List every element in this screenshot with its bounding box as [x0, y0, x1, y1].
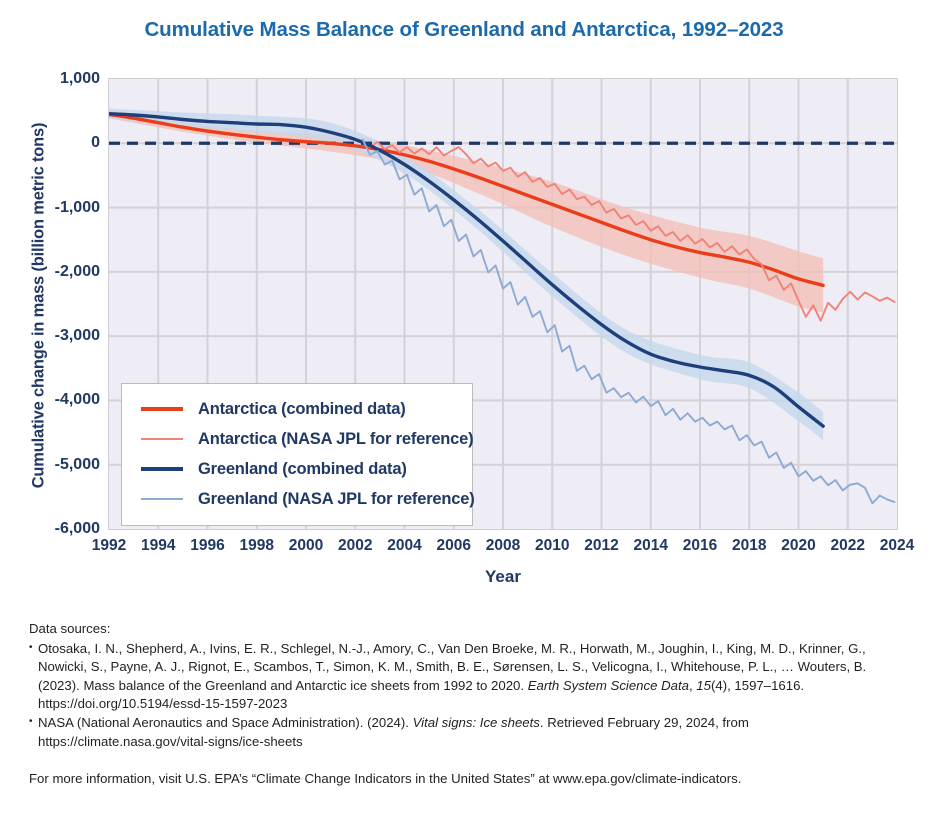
source-2-title: Vital signs: Ice sheets [413, 715, 540, 730]
data-sources-heading: Data sources: [29, 620, 909, 639]
more-information-note: For more information, visit U.S. EPA’s “… [29, 770, 909, 789]
x-axis-title: Year [108, 567, 898, 587]
x-tick-label: 2024 [862, 537, 928, 555]
y-tick-label: 1,000 [0, 70, 100, 88]
legend-item[interactable]: Greenland (combined data) [122, 454, 472, 484]
legend-item-label: Antarctica (NASA JPL for reference) [198, 430, 473, 449]
footnotes: Data sources: Otosaka, I. N., Shepherd, … [29, 620, 909, 789]
legend-item[interactable]: Antarctica (NASA JPL for reference) [122, 424, 472, 454]
y-tick-label: -2,000 [0, 263, 100, 281]
legend-color-swatch [141, 467, 183, 471]
data-source-item-1: Otosaka, I. N., Shepherd, A., Ivins, E. … [29, 640, 909, 714]
y-tick-label: -4,000 [0, 391, 100, 409]
legend-item[interactable]: Greenland (NASA JPL for reference) [122, 484, 472, 514]
y-tick-label: -5,000 [0, 456, 100, 474]
legend-item-label: Greenland (combined data) [198, 460, 407, 479]
y-tick-label: -6,000 [0, 520, 100, 538]
y-axis-tick-labels: 1,0000-1,000-2,000-3,000-4,000-5,000-6,0… [0, 0, 100, 600]
source-1-volume: 15 [696, 678, 711, 693]
source-1-journal: Earth System Science Data [528, 678, 689, 693]
data-source-item-2: NASA (National Aeronautics and Space Adm… [29, 714, 909, 751]
chart-legend: Antarctica (combined data)Antarctica (NA… [121, 383, 473, 526]
source-2-text-a: NASA (National Aeronautics and Space Adm… [38, 715, 413, 730]
legend-color-swatch [141, 438, 183, 440]
legend-color-swatch [141, 498, 183, 500]
y-tick-label: -1,000 [0, 199, 100, 217]
legend-item-label: Greenland (NASA JPL for reference) [198, 490, 475, 509]
legend-item[interactable]: Antarctica (combined data) [122, 394, 472, 424]
chart-figure: Cumulative change in mass (billion metri… [0, 0, 928, 600]
y-tick-label: 0 [0, 134, 100, 152]
legend-color-swatch [141, 407, 183, 411]
legend-item-label: Antarctica (combined data) [198, 400, 406, 419]
y-tick-label: -3,000 [0, 327, 100, 345]
